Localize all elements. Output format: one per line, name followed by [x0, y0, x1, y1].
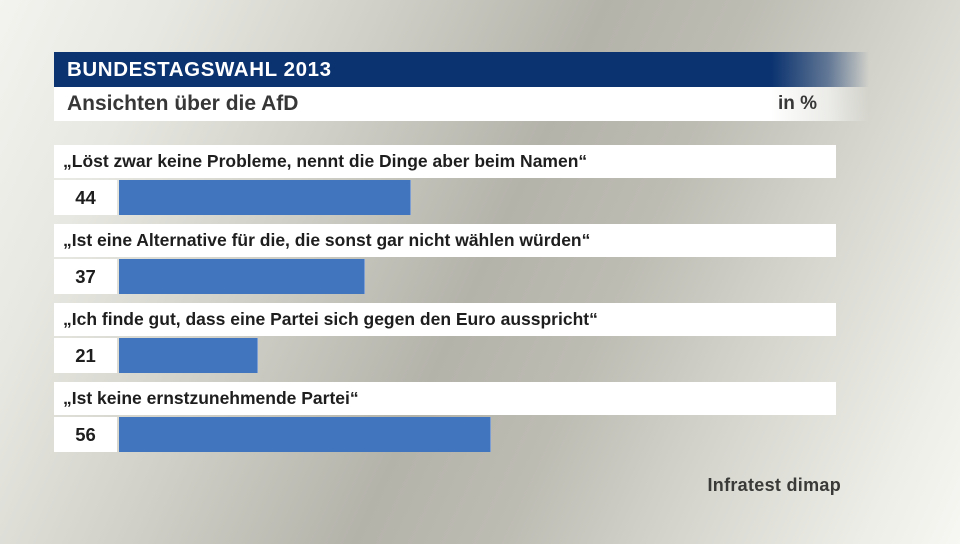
page-title: BUNDESTAGSWAHL 2013: [54, 58, 332, 82]
chart-header: BUNDESTAGSWAHL 2013 Ansichten über die A…: [54, 52, 869, 121]
unit-label: in %: [778, 93, 869, 115]
source-attribution: Infratest dimap: [707, 475, 841, 496]
bar-row: 21: [54, 338, 869, 373]
category-label-box: „Löst zwar keine Probleme, nennt die Din…: [54, 145, 836, 178]
value-label: 56: [75, 424, 96, 446]
bar: [119, 259, 365, 294]
bar: [119, 180, 411, 215]
title-band: BUNDESTAGSWAHL 2013: [54, 52, 869, 87]
chart-row: „Ist keine ernstzunehmende Partei“ 56: [54, 382, 869, 452]
bar-track: [119, 259, 869, 294]
category-label: „Ist eine Alternative für die, die sonst…: [63, 230, 590, 251]
chart-canvas: BUNDESTAGSWAHL 2013 Ansichten über die A…: [0, 0, 960, 544]
bar-row: 44: [54, 180, 869, 215]
subtitle-band: Ansichten über die AfD in %: [54, 87, 869, 121]
chart-row: „Löst zwar keine Probleme, nennt die Din…: [54, 145, 869, 215]
category-label-box: „Ich finde gut, dass eine Partei sich ge…: [54, 303, 836, 336]
category-label: „Ist keine ernstzunehmende Partei“: [63, 388, 359, 409]
value-box: 56: [54, 417, 117, 452]
chart-row: „Ist eine Alternative für die, die sonst…: [54, 224, 869, 294]
bar-track: [119, 417, 869, 452]
chart-row: „Ich finde gut, dass eine Partei sich ge…: [54, 303, 869, 373]
bar-row: 56: [54, 417, 869, 452]
value-box: 21: [54, 338, 117, 373]
value-box: 44: [54, 180, 117, 215]
bar-chart: „Löst zwar keine Probleme, nennt die Din…: [54, 145, 869, 461]
value-label: 44: [75, 187, 96, 209]
value-label: 37: [75, 266, 96, 288]
value-box: 37: [54, 259, 117, 294]
category-label-box: „Ist keine ernstzunehmende Partei“: [54, 382, 836, 415]
bar: [119, 417, 491, 452]
bar-row: 37: [54, 259, 869, 294]
value-label: 21: [75, 345, 96, 367]
category-label-box: „Ist eine Alternative für die, die sonst…: [54, 224, 836, 257]
bar: [119, 338, 258, 373]
bar-track: [119, 180, 869, 215]
bar-track: [119, 338, 869, 373]
category-label: „Löst zwar keine Probleme, nennt die Din…: [63, 151, 587, 172]
chart-subtitle: Ansichten über die AfD: [54, 92, 298, 116]
category-label: „Ich finde gut, dass eine Partei sich ge…: [63, 309, 598, 330]
